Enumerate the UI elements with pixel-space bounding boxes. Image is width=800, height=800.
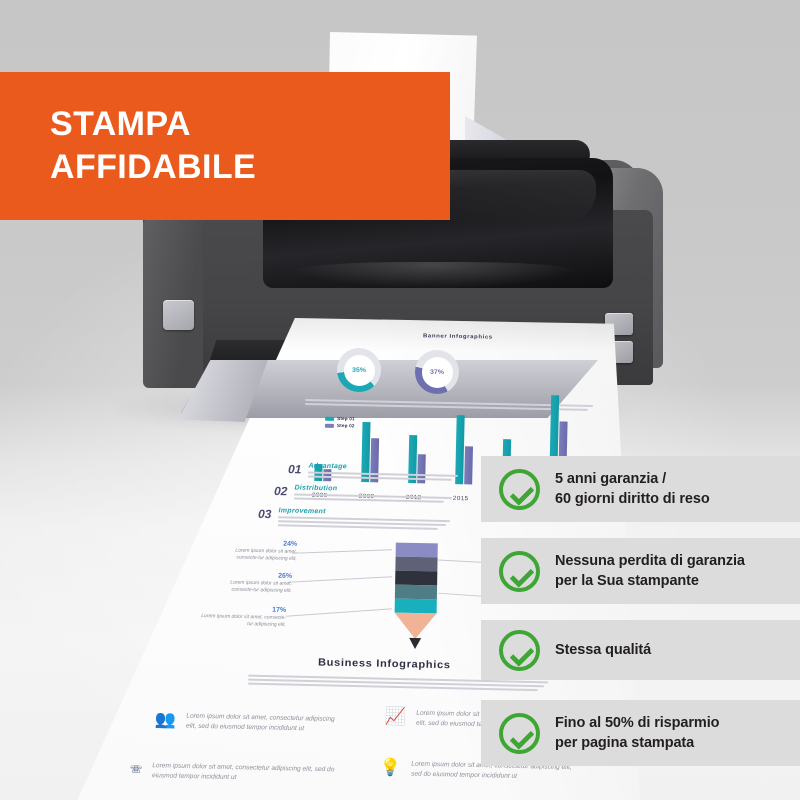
pencil-callout-3-text: Lorem ipsum dolor sit amet, consecte-tur… (200, 613, 286, 629)
check-circle-icon (499, 630, 540, 671)
lightbulb-icon: 💡 (380, 759, 402, 776)
donut-1-value: 35% (352, 367, 366, 374)
headline-line-2: AFFIDABILE (50, 146, 450, 189)
numbered-item-2: 02 Distribution (274, 484, 453, 505)
pencil-wood-tip (394, 613, 436, 640)
icon-tile-1: 👥 Lorem ipsum dolor sit amet, consectetu… (155, 711, 345, 735)
people-group-icon: 👥 (155, 711, 177, 728)
growth-chart-icon: 📈 (385, 708, 407, 725)
bar-step02-2015 (464, 446, 473, 485)
document-top-title: Banner Infographics (423, 334, 493, 341)
feature-box-2[interactable]: Nessuna perdita di garanziaper la Sua st… (481, 538, 800, 604)
pencil-callout-1-text: Lorem ipsum dolor sit amet, consecte-tur… (215, 547, 297, 563)
feature-box-4-label: Fino al 50% di risparmioper pagina stamp… (555, 713, 719, 753)
check-circle-icon (499, 713, 540, 754)
pencil-leader-2 (288, 576, 392, 582)
donut-2-value: 37% (430, 369, 444, 376)
numbered-item-3: 03 Improvement (258, 507, 451, 532)
pencil-leader-1 (292, 549, 392, 553)
printer-lid-sheen (290, 262, 580, 288)
feature-box-4[interactable]: Fino al 50% di risparmioper pagina stamp… (481, 700, 800, 766)
feature-box-1-label: 5 anni garanzia /60 giorni diritto di re… (555, 469, 710, 509)
check-circle-icon (499, 551, 540, 592)
axis-tick-2015: 2015 (453, 495, 469, 502)
pencil-callout-2: 26% Lorem ipsum dolor sit amet, consecte… (208, 571, 292, 595)
poster-canvas: Banner Infographics 35% 37% Step 01 Step… (0, 0, 800, 800)
feature-box-2-label: Nessuna perdita di garanziaper la Sua st… (555, 551, 745, 591)
icon-tile-3: 🕾 Lorem ipsum dolor sit amet, consectetu… (130, 761, 335, 785)
headline-line-1: STAMPA (50, 103, 450, 146)
pencil-lead-tip (409, 638, 421, 649)
pencil-callout-2-text: Lorem ipsum dolor sit amet, consecte-tur… (208, 579, 292, 595)
pencil-callout-1: 24% Lorem ipsum dolor sit amet, consecte… (215, 539, 297, 563)
headline-banner: STAMPA AFFIDABILE (0, 72, 450, 220)
feature-box-1[interactable]: 5 anni garanzia /60 giorni diritto di re… (481, 456, 800, 522)
feature-box-3-label: Stessa qualitá (555, 640, 651, 660)
check-circle-icon (499, 469, 540, 510)
pencil-callout-3: 17% Lorem ipsum dolor sit amet, consecte… (200, 605, 286, 629)
pencil-leader-3 (286, 608, 392, 616)
numbered-2-num: 02 (274, 484, 288, 498)
feature-box-3[interactable]: Stessa qualitá (481, 620, 800, 680)
icon-tile-1-text: Lorem ipsum dolor sit amet, consectetur … (186, 712, 345, 735)
document-bottom-title: Business Infographics (318, 657, 451, 671)
numbered-1-num: 01 (288, 462, 302, 476)
pencil-infographic (394, 543, 438, 640)
icon-tile-3-text: Lorem ipsum dolor sit amet, consectetur … (152, 761, 335, 785)
numbered-3-num: 03 (258, 507, 272, 521)
clock-phone-icon: 🕾 (130, 761, 143, 778)
